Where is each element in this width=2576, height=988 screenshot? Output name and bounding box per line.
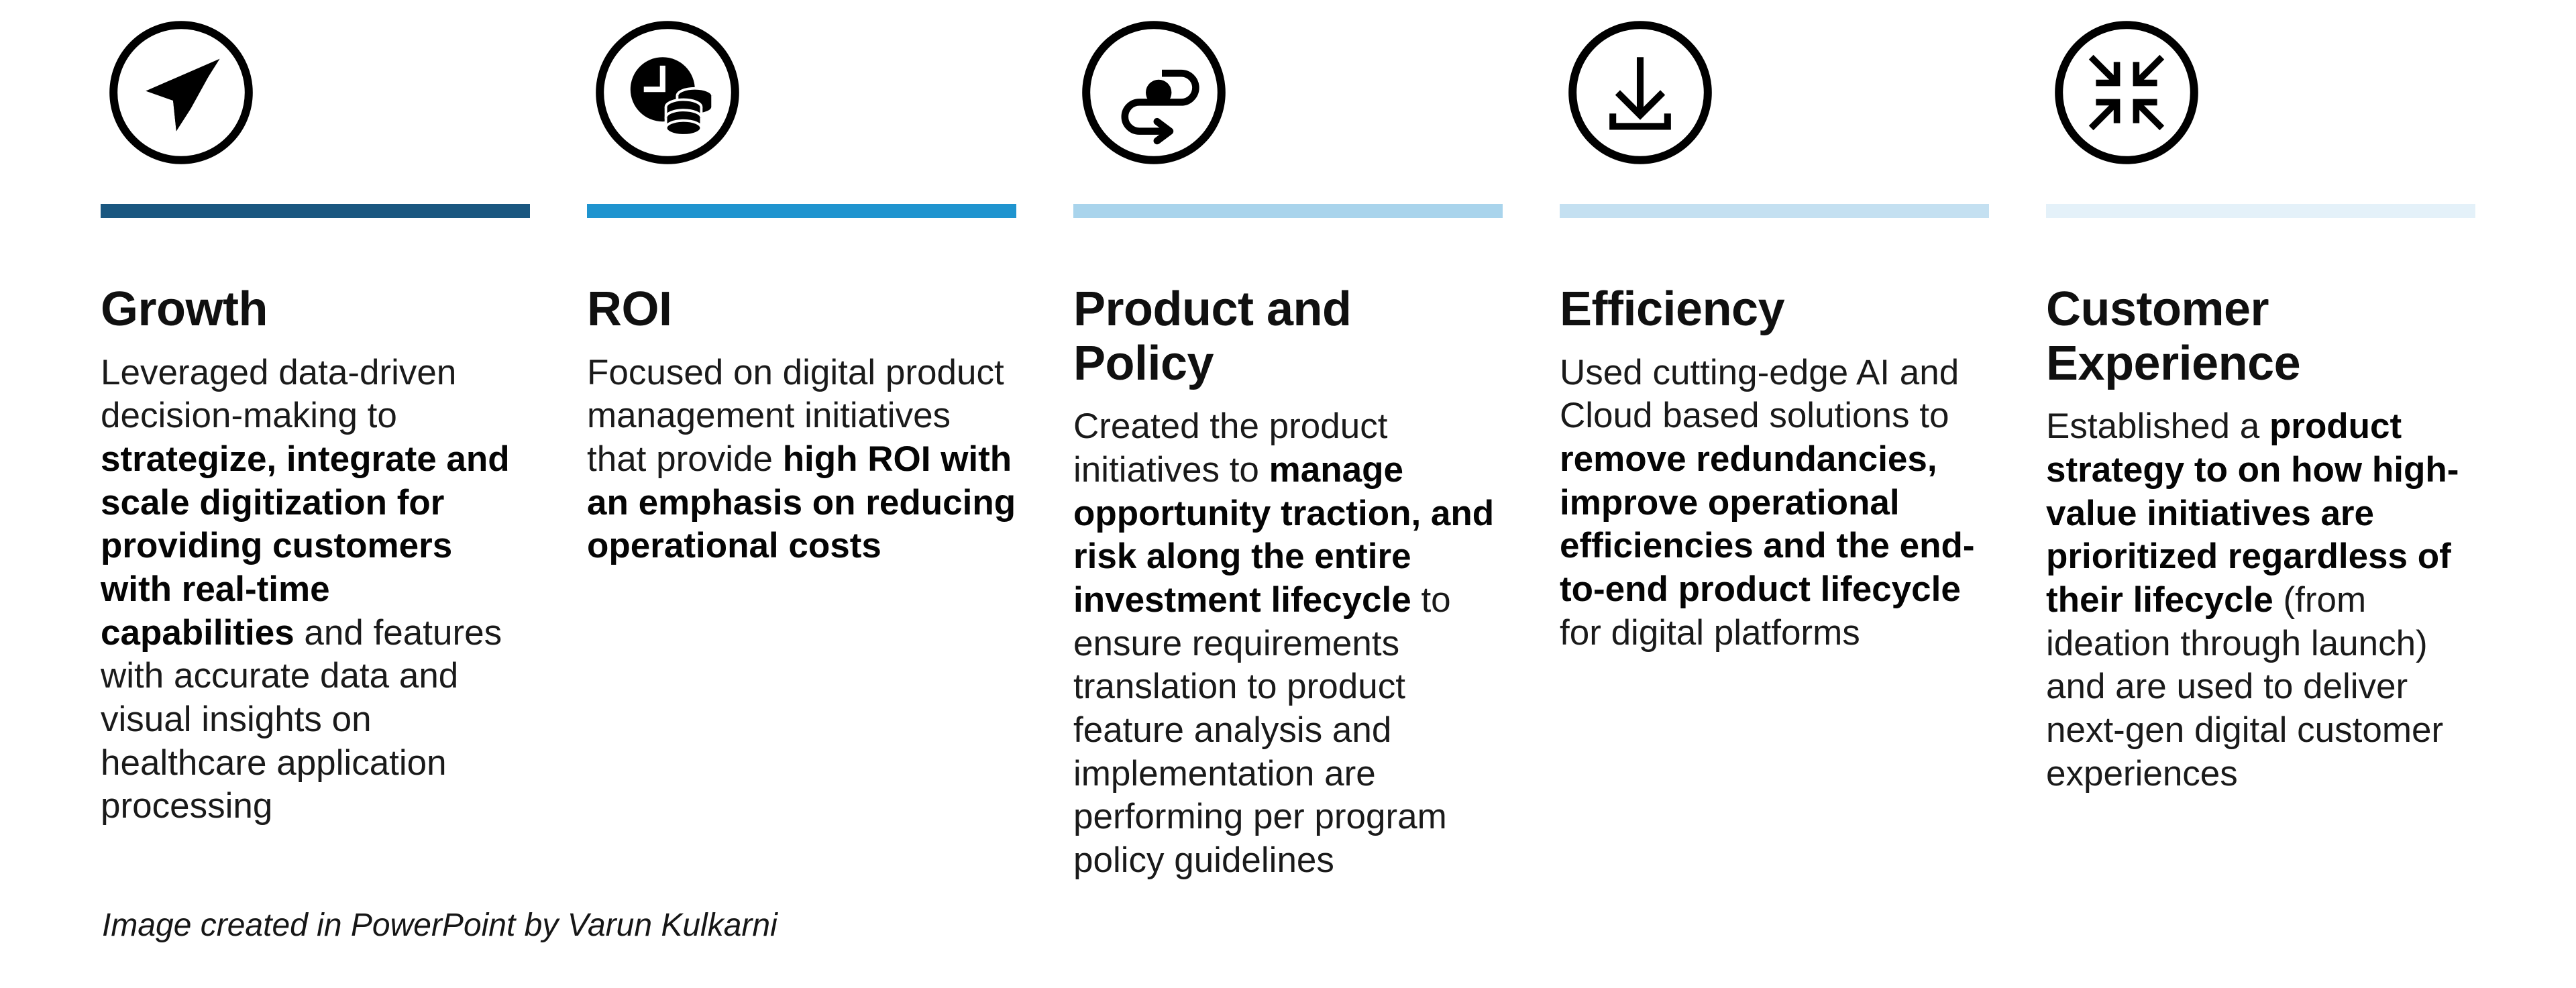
accent-bar-efficiency (1560, 204, 1989, 218)
accent-bar-growth (101, 204, 530, 218)
pillar-title-growth: Growth (101, 282, 268, 337)
accent-bar-product-and-policy (1073, 204, 1503, 218)
pillar-column-product-and-policy: Product and Policy Created the product i… (1073, 0, 1503, 882)
accent-bar-customer-experience (2046, 204, 2475, 218)
pillar-column-roi: ROI Focused on digital product managemen… (587, 0, 1016, 568)
pillar-title-product-and-policy: Product and Policy (1073, 282, 1503, 390)
pillar-body-growth: Leveraged data-driven decision-making to… (101, 351, 530, 828)
pillar-body-efficiency: Used cutting-edge AI and Cloud based sol… (1560, 351, 1989, 655)
image-credit: Image created in PowerPoint by Varun Kul… (102, 907, 777, 944)
download-arrow-in-circle-icon (1560, 12, 1721, 173)
infographic-board: Growth Leveraged data-driven decision-ma… (0, 0, 2576, 988)
pillar-column-efficiency: Efficiency Used cutting-edge AI and Clou… (1560, 0, 1989, 655)
paper-plane-in-circle-icon (101, 12, 262, 173)
pillar-column-customer-experience: Customer Experience Established a produc… (2046, 0, 2475, 795)
pillar-title-customer-experience: Customer Experience (2046, 282, 2475, 390)
pillar-body-customer-experience: Established a product strategy to on how… (2046, 405, 2475, 795)
pillar-column-growth: Growth Leveraged data-driven decision-ma… (101, 0, 530, 828)
pillar-body-product-and-policy: Created the product initiatives to manag… (1073, 405, 1503, 882)
pillar-columns: Growth Leveraged data-driven decision-ma… (101, 0, 2475, 988)
clock-and-coins-in-circle-icon (587, 12, 748, 173)
accent-bar-roi (587, 204, 1016, 218)
converge-arrows-in-circle-icon (2046, 12, 2207, 173)
pillar-title-efficiency: Efficiency (1560, 282, 1784, 337)
pillar-body-roi: Focused on digital product management in… (587, 351, 1016, 568)
pillar-title-roi: ROI (587, 282, 672, 337)
workflow-path-arrow-in-circle-icon (1073, 12, 1234, 173)
